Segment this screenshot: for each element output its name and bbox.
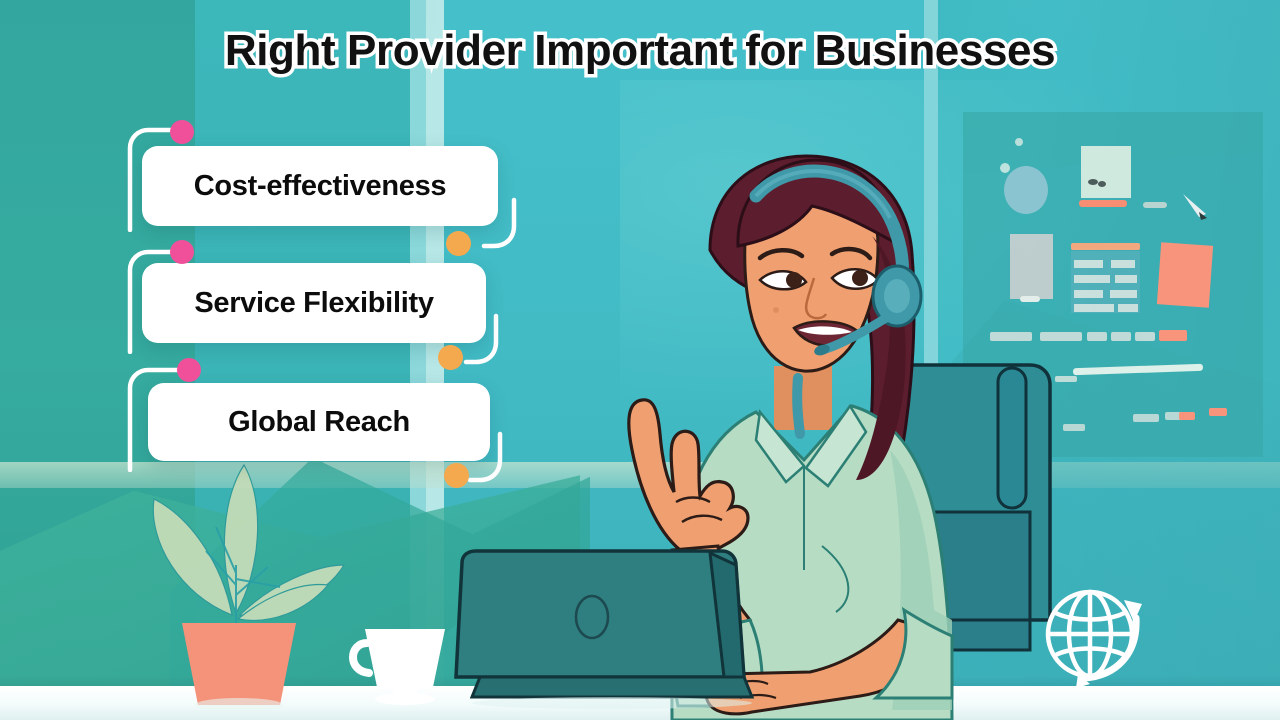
feature-card-service-flexibility[interactable]: Service Flexibility <box>142 263 486 343</box>
feature-card-label: Global Reach <box>228 406 410 439</box>
poster-canvas: Right Provider Important for Businesses <box>0 0 1280 720</box>
coffee-cup <box>345 625 465 707</box>
feature-card-label: Service Flexibility <box>194 287 433 320</box>
orange-dot-1 <box>446 231 471 256</box>
globe-with-arrow-icon <box>1038 578 1156 690</box>
orange-dot-3 <box>444 463 469 488</box>
page-title: Right Provider Important for Businesses <box>0 26 1280 76</box>
feature-card-label: Cost-effectiveness <box>194 170 446 203</box>
laptop <box>452 545 762 710</box>
orange-dot-2 <box>438 345 463 370</box>
feature-card-cost-effectiveness[interactable]: Cost-effectiveness <box>142 146 498 226</box>
pink-dot-1 <box>170 120 194 144</box>
pink-dot-2 <box>170 240 194 264</box>
feature-card-global-reach[interactable]: Global Reach <box>148 383 490 461</box>
potted-plant <box>120 455 350 710</box>
pink-dot-3 <box>177 358 201 382</box>
